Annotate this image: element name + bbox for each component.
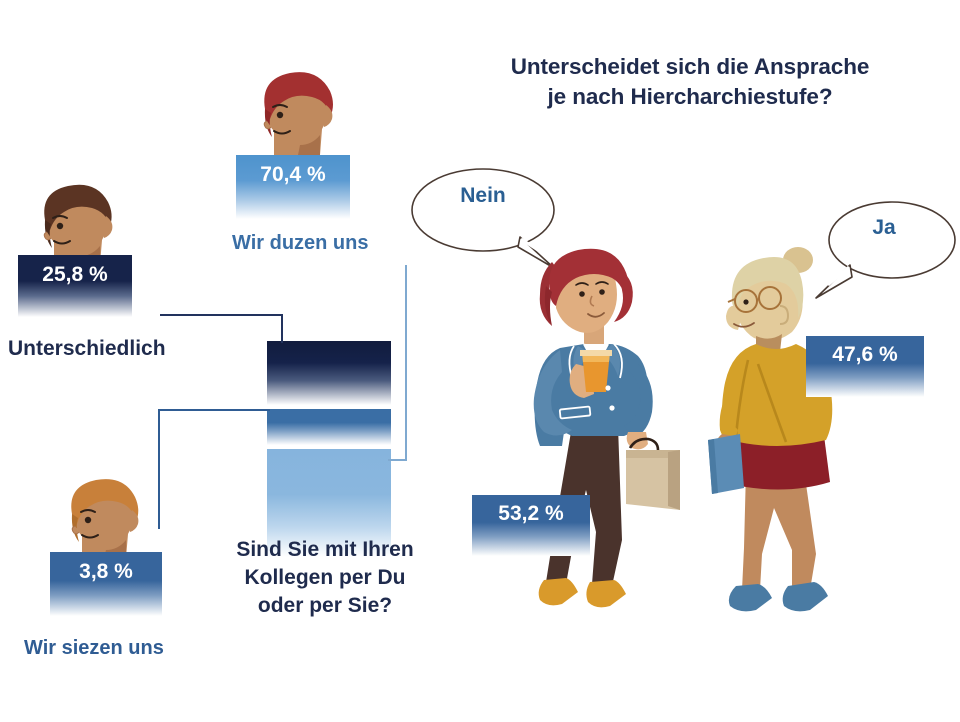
label-wir-duzen-uns: Wir duzen uns [232,232,368,255]
connector-siezen-horizontal [158,409,270,411]
connector-unterschiedlich-horizontal [160,314,283,316]
bottom-question: Sind Sie mit Ihren Kollegen per Du oder … [195,536,455,620]
value-chip-duzen: 70,4 % [236,155,350,219]
bottom-question-line-1: Sind Sie mit Ihren [195,536,455,564]
value-chip-unterschiedlich: 25,8 % [18,255,132,317]
connector-siezen-vertical [158,409,160,529]
label-wir-siezen-uns: Wir siezen uns [24,637,164,660]
value-chip-ja: 47,6 % [806,336,924,397]
value-text-unterschiedlich: 25,8 % [42,263,107,287]
stacked-bar [267,341,391,561]
avatar-head-red [238,55,350,165]
value-chip-nein: 53,2 % [472,495,590,556]
value-text-duzen: 70,4 % [260,163,325,187]
bar-segment-unterschiedlich [267,341,391,405]
page-title: Unterscheidet sich die Ansprache je nach… [440,52,940,111]
label-unterschiedlich: Unterschiedlich [8,337,166,361]
illustration-woman-blazer [500,240,720,620]
page-title-line-2: je nach Hiercharchiestufe? [440,82,940,112]
value-text-nein: 53,2 % [498,502,563,526]
connector-unterschiedlich-vertical [281,314,283,343]
connector-duzen-horizontal [388,459,407,461]
speech-bubble-nein-text: Nein [408,184,558,208]
value-text-siezen: 3,8 % [79,560,133,584]
bottom-question-line-3: oder per Sie? [195,592,455,620]
speech-bubble-ja-text: Ja [820,216,948,240]
value-text-ja: 47,6 % [832,343,897,367]
connector-duzen-vertical [405,265,407,461]
value-chip-siezen: 3,8 % [50,552,162,616]
illustration-woman-sweater [700,244,900,624]
bottom-question-line-2: Kollegen per Du [195,564,455,592]
page-title-line-1: Unterscheidet sich die Ansprache [440,52,940,82]
bar-segment-siezen [267,409,391,445]
infographic-canvas: Unterscheidet sich die Ansprache je nach… [0,0,960,722]
